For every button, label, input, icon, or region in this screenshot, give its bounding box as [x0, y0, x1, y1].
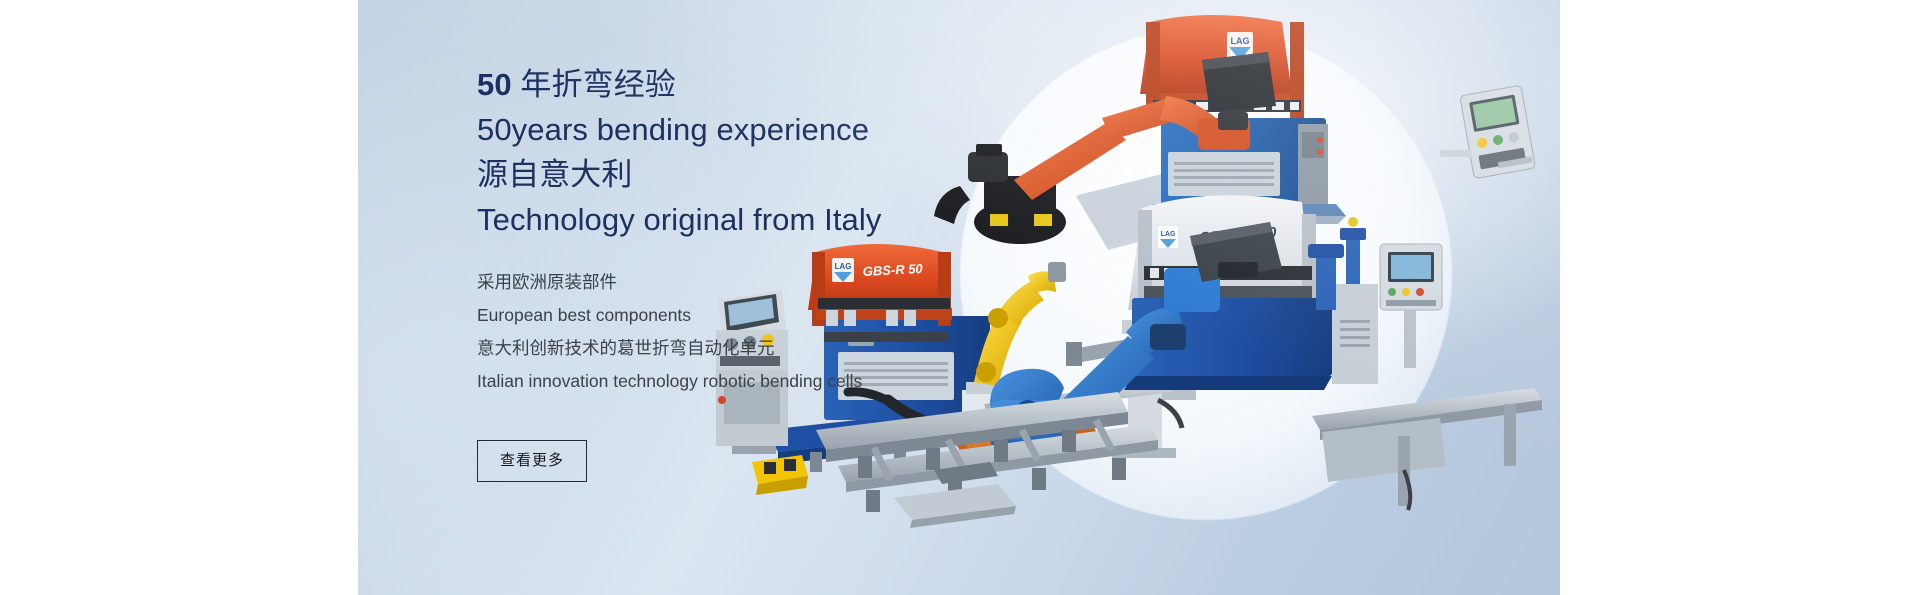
control-pendant-machine1	[1460, 85, 1536, 178]
unloading-conveyor	[1312, 388, 1542, 510]
headline-line-1-bold: 50	[477, 67, 512, 102]
view-more-button[interactable]: 查看更多	[477, 440, 587, 482]
subtext-block: 采用欧洲原装部件 European best components 意大利创新技…	[477, 266, 997, 398]
hero-banner: LAG	[358, 0, 1560, 595]
subtext-line-2: European best components	[477, 299, 997, 332]
subtext-line-4: Italian innovation technology robotic be…	[477, 365, 997, 398]
headline-line-1: 50 年折弯经验	[477, 62, 997, 107]
subtext-line-1: 采用欧洲原装部件	[477, 266, 997, 299]
headline-line-1-rest: 年折弯经验	[512, 67, 676, 102]
hero-copy: 50 年折弯经验 50years bending experience 源自意大…	[477, 62, 997, 398]
banner-stage: LAG	[0, 0, 1920, 595]
subtext-line-3: 意大利创新技术的葛世折弯自动化单元	[477, 332, 997, 365]
headline-line-4: Technology original from Italy	[477, 197, 997, 242]
headline-line-4-text: Technology original from Italy	[477, 202, 881, 237]
lag-logo-machine3: LAG	[1158, 226, 1178, 248]
svg-text:LAG: LAG	[1231, 36, 1250, 46]
hmi-panel-machine3	[1380, 244, 1442, 368]
svg-text:LAG: LAG	[1161, 231, 1176, 238]
headline-line-2: 50years bending experience	[477, 107, 997, 152]
headline-line-3: 源自意大利	[477, 152, 997, 197]
headline-line-3-text: 源自意大利	[477, 157, 633, 192]
foot-pedal	[752, 455, 808, 495]
headline-line-2-text: 50years bending experience	[477, 112, 869, 147]
